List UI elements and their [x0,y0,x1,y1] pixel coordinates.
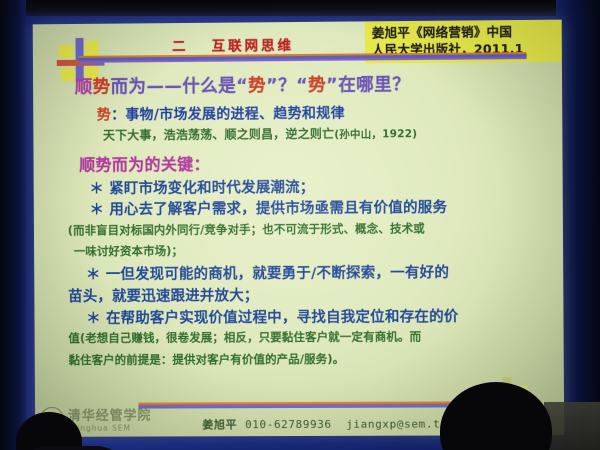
title-char-shun: 顺 [75,78,93,98]
title-quote-close-1: ” [266,76,278,96]
presenter-name: 姜旭平 [202,418,237,431]
header-rule [79,52,527,63]
title-quote-close-2: ” [326,76,338,96]
section-number: 二 [172,39,189,55]
projected-slide: 姜旭平《网络营销》中国 人民大学出版社，2011.1 二 互联网思维 顺势而为—… [33,20,564,437]
bullet-item-4: ＊ 在帮助客户实现价值过程中，寻找自我定位和存在的价 [86,308,549,329]
definition-line: 势：事物/市场发展的进程、趋势和规律 [97,101,548,124]
slide-main-title: 顺势而为——什么是“势”？“势”在哪里？ [75,70,548,99]
bullet-4-note-line-1: 值(老想自己赚钱，很卷发展；相反，只要黏住客户就一定有商机。而 [68,329,549,346]
title-quote-open-1: “ [236,76,248,96]
bullet-2-note-line-1: (而非盲目对标国内外同行/竞争对手；也不可流于形式、概念、技术或 [68,220,549,238]
photo-scene: 姜旭平《网络营销》中国 人民大学出版社，2011.1 二 互联网思维 顺势而为—… [0,0,600,450]
bullet-3-continuation: 苗头，就要迅速跟进并放大； [68,285,549,306]
title-char-shi: 势 [93,78,111,98]
bullet-item-2: ＊ 用心去了解客户需求，提供市场亟需且有价值的服务 [89,199,548,220]
key-points-heading: 顺势而为的关键： [79,148,548,175]
section-heading: 二 互联网思维 [172,34,294,55]
logo-name-cn: 清华经管学院 [68,409,152,424]
foreground-furniture [544,402,600,450]
presenter-phone: 010-62789936 [245,418,332,431]
quote-source: (孙中山，1922) [334,128,417,141]
slide-header: 二 互联网思维 [33,28,562,73]
definition-key: 势 [97,107,111,123]
quote-text: 天下大事，浩浩荡荡、顺之则昌，逆之则亡 [103,127,334,143]
section-title: 互联网思维 [212,38,294,55]
title-quote-open-2: “ [296,76,308,96]
title-mid: 而为——什么是 [111,76,237,97]
title-tail: 在哪里？ [338,75,410,96]
left-wall-shadow [0,0,26,450]
bullet-2-note-line-2: 一味讨好资本市场)； [74,242,549,260]
bullet-4-note-line-2: 黏住客户的前提是：提供对客户有价值的产品/服务)。 [68,351,549,368]
title-key-1: 势 [248,76,266,96]
quote-line: 天下大事，浩浩荡荡、顺之则昌，逆之则亡(孙中山，1922) [103,123,548,143]
title-key-2: 势 [308,76,326,96]
bullet-item-1: ＊ 紧盯市场变化和时代发展潮流； [89,177,548,198]
logo-name-en: Tsinghua SEM [68,424,152,433]
title-question-1: ？ [278,76,296,96]
ceiling-shadow [0,0,600,16]
definition-text: ：事物/市场发展的进程、趋势和规律 [111,106,345,124]
slide-body: 顺势而为——什么是“势”？“势”在哪里？ 势：事物/市场发展的进程、趋势和规律 … [33,70,564,375]
bullet-item-3: ＊ 一但发现可能的商机，就要勇于/不断探索，一有好的 [86,264,549,285]
